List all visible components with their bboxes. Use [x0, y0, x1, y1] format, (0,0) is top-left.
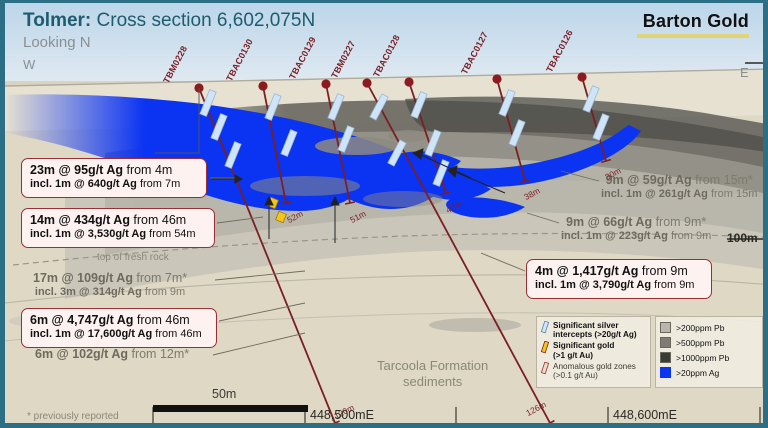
formation-label-line2: sediments	[377, 374, 488, 390]
intercept-sub-rest: from 54m	[146, 228, 196, 240]
legend-label-anomalous: Anomalous gold zones (>0.1 g/t Au)	[553, 362, 636, 380]
swatch-500ppm-pb	[660, 337, 671, 348]
brand-logo: Barton Gold	[637, 11, 749, 38]
swatch-label-20ppm-ag: >20ppm Ag	[676, 368, 719, 378]
intercept-main-bold: 9m @ 66g/t Ag	[566, 215, 652, 229]
intercept-main-bold: 14m @ 434g/t Ag	[30, 213, 130, 227]
intercept-sub-g: incl. 1m @ 223g/t Ag from 9m	[561, 230, 711, 243]
legend-silver-line1: Significant silver	[553, 321, 637, 330]
intercept-sub-f: incl. 1m @ 261g/t Ag from 15m	[601, 188, 757, 201]
formation-label: Tarcoola Formation sediments	[377, 358, 488, 391]
intercept-callout-g: 9m @ 66g/t Ag from 9m*incl. 1m @ 223g/t …	[561, 215, 711, 244]
legend-gold-line1: Significant gold	[553, 341, 614, 350]
legend-label-silver: Significant silver intercepts (>20g/t Ag…	[553, 321, 637, 339]
intercept-callout-e: 6m @ 102g/t Ag from 12m*	[35, 347, 189, 362]
intercept-callout-f: 9m @ 59g/t Ag from 15m*incl. 1m @ 261g/t…	[601, 173, 757, 202]
view-direction-label: Looking N	[23, 34, 91, 51]
west-label: W	[23, 57, 35, 72]
intercept-main-rest: from 9m	[638, 264, 687, 278]
intercept-main-rest: from 4m	[123, 163, 172, 177]
intercept-main-rest: from 46m	[133, 313, 189, 327]
intercept-sub-bold: incl. 1m @ 17,600g/t Ag	[30, 328, 152, 340]
gold-intercept-icon	[541, 341, 550, 354]
swatch-label-200ppm-pb: >200ppm Pb	[676, 323, 724, 333]
footnote: * previously reported	[27, 411, 119, 422]
intercept-callout-b: 14m @ 434g/t Ag from 46mincl. 1m @ 3,530…	[21, 208, 215, 248]
legend-swatch-row: >1000ppm Pb	[660, 352, 758, 363]
legend-swatch-row: >500ppm Pb	[660, 337, 758, 348]
brand-name: Barton Gold	[637, 11, 749, 32]
page-title: Tolmer: Cross section 6,602,075N	[23, 10, 315, 32]
east-label: E	[740, 65, 749, 80]
intercept-main-bold: 4m @ 1,417g/t Ag	[535, 264, 638, 278]
intercept-main-bold: 23m @ 95g/t Ag	[30, 163, 123, 177]
intercept-sub-rest: from 7m	[137, 178, 180, 190]
page-title-bold: Tolmer:	[23, 10, 91, 31]
intercept-main-rest: from 9m*	[652, 215, 706, 229]
legend-symbols: Significant silver intercepts (>20g/t Ag…	[536, 316, 651, 388]
legend-label-gold: Significant gold (>1 g/t Au)	[553, 341, 614, 359]
legend-item-gold: Significant gold (>1 g/t Au)	[541, 341, 646, 359]
legend-swatch-row: >20ppm Ag	[660, 367, 758, 378]
top-of-fresh-rock-label: top of fresh rock	[97, 252, 169, 263]
depth-scale-label: 100m	[727, 231, 758, 245]
silver-intercept-icon	[541, 321, 550, 334]
swatch-20ppm-ag	[660, 367, 671, 378]
easting-label-448500: 448,500mE	[310, 408, 374, 422]
intercept-main-e: 6m @ 102g/t Ag from 12m*	[35, 347, 189, 362]
intercept-main-rest: from 12m*	[128, 347, 189, 361]
legend-item-anomalous-gold: Anomalous gold zones (>0.1 g/t Au)	[541, 362, 646, 380]
intercept-main-rest: from 46m	[130, 213, 186, 227]
intercept-main-a: 23m @ 95g/t Ag from 4m	[30, 163, 198, 178]
intercept-sub-h: incl. 1m @ 3,790g/t Ag from 9m	[535, 279, 703, 292]
grey-inclusion-4	[363, 191, 443, 207]
intercept-sub-rest: from 15m	[708, 188, 758, 200]
intercept-sub-rest: from 9m	[651, 279, 694, 291]
legend-anom-line2: (>0.1 g/t Au)	[553, 371, 636, 380]
intercept-sub-bold: incl. 1m @ 261g/t Ag	[601, 188, 708, 200]
intercept-sub-bold: incl. 1m @ 223g/t Ag	[561, 230, 668, 242]
drill-hole-collar-tbm0227	[362, 78, 371, 87]
drill-hole-collar-tbac0126	[577, 72, 586, 81]
formation-label-line1: Tarcoola Formation	[377, 358, 488, 374]
intercept-main-bold: 17m @ 109g/t Ag	[33, 271, 133, 285]
swatch-label-500ppm-pb: >500ppm Pb	[676, 338, 724, 348]
grey-blob-low	[429, 318, 521, 332]
intercept-sub-b: incl. 1m @ 3,530g/t Ag from 54m	[30, 228, 206, 241]
intercept-main-rest: from 7m*	[133, 271, 187, 285]
swatch-label-1000ppm-pb: >1000ppm Pb	[676, 353, 729, 363]
intercept-sub-bold: incl. 1m @ 640g/t Ag	[30, 178, 137, 190]
scale-bar-label: 50m	[212, 387, 236, 401]
swatch-1000ppm-pb	[660, 352, 671, 363]
legend-swatches: >200ppm Pb >500ppm Pb >1000ppm Pb >20ppm…	[655, 316, 763, 388]
intercept-callout-h: 4m @ 1,417g/t Ag from 9mincl. 1m @ 3,790…	[526, 259, 712, 299]
intercept-sub-c: incl. 3m @ 314g/t Ag from 9m	[33, 286, 187, 299]
intercept-main-h: 4m @ 1,417g/t Ag from 9m	[535, 264, 703, 279]
intercept-callout-a: 23m @ 95g/t Ag from 4mincl. 1m @ 640g/t …	[21, 158, 207, 198]
intercept-sub-a: incl. 1m @ 640g/t Ag from 7m	[30, 178, 198, 191]
intercept-sub-bold: incl. 3m @ 314g/t Ag	[35, 286, 142, 298]
scale-bar	[153, 405, 308, 412]
drill-hole-collar-tbac0128	[404, 77, 413, 86]
intercept-main-b: 14m @ 434g/t Ag from 46m	[30, 213, 206, 228]
intercept-main-g: 9m @ 66g/t Ag from 9m*	[561, 215, 711, 230]
intercept-sub-rest: from 9m	[668, 230, 711, 242]
page-title-rest: Cross section 6,602,075N	[91, 10, 315, 31]
brand-underline	[637, 34, 749, 38]
intercept-main-bold: 6m @ 4,747g/t Ag	[30, 313, 133, 327]
intercept-callout-c: 17m @ 109g/t Ag from 7m*incl. 3m @ 314g/…	[33, 271, 187, 300]
legend-anom-line1: Anomalous gold zones	[553, 362, 636, 371]
anomalous-gold-icon	[541, 362, 550, 375]
intercept-sub-rest: from 46m	[152, 328, 202, 340]
intercept-sub-d: incl. 1m @ 17,600g/t Ag from 46m	[30, 328, 208, 341]
grey-inclusion-1	[315, 137, 399, 155]
grey-inclusion-3	[250, 176, 360, 196]
legend-item-silver: Significant silver intercepts (>20g/t Ag…	[541, 321, 646, 339]
intercept-main-f: 9m @ 59g/t Ag from 15m*	[601, 173, 757, 188]
legend-gold-line2: (>1 g/t Au)	[553, 351, 614, 360]
drill-hole-collar-tbac0130	[258, 81, 267, 90]
intercept-callout-d: 6m @ 4,747g/t Ag from 46mincl. 1m @ 17,6…	[21, 308, 217, 348]
drill-hole-collar-tbac0127	[492, 74, 501, 83]
intercept-sub-bold: incl. 1m @ 3,790g/t Ag	[535, 279, 651, 291]
legend-silver-line2: intercepts (>20g/t Ag)	[553, 330, 637, 339]
intercept-main-d: 6m @ 4,747g/t Ag from 46m	[30, 313, 208, 328]
drill-hole-collar-tbac0129	[321, 79, 330, 88]
intercept-main-bold: 6m @ 102g/t Ag	[35, 347, 128, 361]
easting-label-448600: 448,600mE	[613, 408, 677, 422]
intercept-main-c: 17m @ 109g/t Ag from 7m*	[33, 271, 187, 286]
intercept-sub-bold: incl. 1m @ 3,530g/t Ag	[30, 228, 146, 240]
swatch-200ppm-pb	[660, 322, 671, 333]
intercept-sub-rest: from 9m	[142, 286, 185, 298]
cross-section-figure: Tolmer: Cross section 6,602,075N Looking…	[0, 0, 768, 428]
legend-swatch-row: >200ppm Pb	[660, 322, 758, 333]
intercept-main-rest: from 15m*	[692, 173, 753, 187]
